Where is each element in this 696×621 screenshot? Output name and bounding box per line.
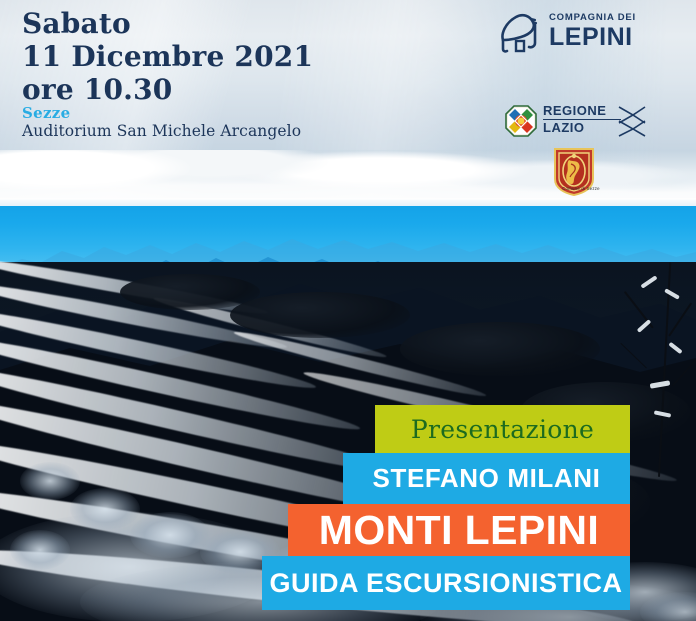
lazio-line2: LAZIO	[543, 121, 621, 135]
bar-title-label: MONTI LEPINI	[319, 507, 599, 554]
bar-role: GUIDA ESCURSIONISTICA	[262, 556, 630, 610]
bar-role-label: GUIDA ESCURSIONISTICA	[269, 568, 622, 599]
logo-compagnia-dei-lepini: COMPAGNIA DEI LEPINI	[497, 10, 647, 56]
bar-presentazione: Presentazione	[375, 405, 630, 453]
lazio-chevron-icon	[617, 105, 647, 137]
lepini-line2: LEPINI	[549, 23, 633, 52]
event-headline: Sabato 11 Dicembre 2021 ore 10.30	[22, 8, 313, 106]
venue-name: Auditorium San Michele Arcangelo	[22, 122, 301, 140]
venue-city: Sezze	[22, 104, 70, 122]
bar-speaker-label: STEFANO MILANI	[373, 463, 601, 494]
regione-lazio-emblem-icon	[505, 105, 537, 137]
poster: Sabato 11 Dicembre 2021 ore 10.30 Sezze …	[0, 0, 696, 621]
comune-caption: Comune di Sezze	[541, 186, 621, 191]
bar-title: MONTI LEPINI	[288, 504, 630, 556]
logo-regione-lazio: REGIONE LAZIO	[505, 103, 645, 143]
bar-speaker: STEFANO MILANI	[343, 453, 630, 504]
lazio-line1: REGIONE	[543, 104, 621, 118]
lepini-line1: COMPAGNIA DEI	[549, 12, 636, 23]
hut-outline-icon	[497, 10, 545, 54]
bar-presentazione-label: Presentazione	[411, 415, 594, 444]
lazio-wordmark: REGIONE LAZIO	[543, 104, 621, 135]
